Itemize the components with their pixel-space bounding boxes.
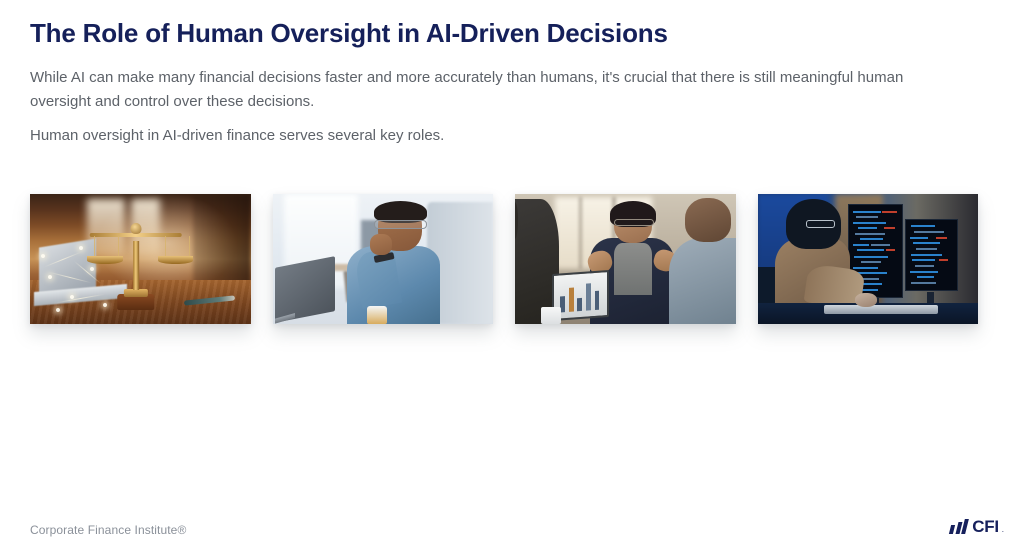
chart-bar (586, 284, 591, 311)
monitor-secondary (905, 219, 958, 292)
photo-business-meeting-discussion (515, 194, 736, 324)
coffee-cup (541, 307, 561, 324)
eyeglasses-icon (614, 219, 654, 227)
eyeglasses-icon (374, 220, 427, 229)
photo-man-thinking-at-laptop (273, 194, 494, 324)
window-mullion (579, 197, 583, 270)
cfi-logo-text: CFI (972, 519, 998, 534)
image-card-developer (758, 194, 979, 324)
laptop-screen (275, 256, 335, 322)
photo-developer-at-dual-monitors (758, 194, 979, 324)
developer-hand (855, 293, 877, 307)
speaker-blouse (614, 243, 651, 295)
page-title: The Role of Human Oversight in AI-Driven… (30, 17, 930, 49)
laptop-with-bar-chart (552, 270, 609, 321)
listener-right-head (685, 198, 731, 242)
image-card-business-meeting (515, 194, 736, 324)
laptop-base (275, 312, 295, 323)
image-card-man-thinking (273, 194, 494, 324)
chart-bar (569, 287, 574, 311)
body-paragraph-1: While AI can make many financial decisio… (30, 66, 925, 114)
person-hand (370, 234, 392, 255)
cfi-logo: CFI . (950, 519, 1004, 534)
coffee-cup (367, 306, 387, 324)
monitor-stand (927, 292, 934, 304)
footer-attribution: Corporate Finance Institute® (30, 523, 186, 537)
image-card-scales-of-justice (30, 194, 251, 324)
slide: The Role of Human Oversight in AI-Driven… (0, 0, 1024, 556)
listener-left-head (515, 202, 518, 239)
cfi-logo-trademark: . (1002, 525, 1004, 534)
keyboard (824, 305, 939, 314)
chart-bar (561, 296, 566, 313)
listener-right-torso (669, 238, 735, 324)
body-copy: While AI can make many financial decisio… (30, 66, 930, 148)
data-network-overlay (30, 194, 251, 324)
photo-scales-of-justice (30, 194, 251, 324)
body-paragraph-2: Human oversight in AI-driven finance ser… (30, 124, 930, 148)
eyeglasses-icon (806, 220, 835, 228)
cfi-logo-bars-icon (950, 519, 967, 534)
chart-bar (595, 291, 600, 310)
chart-bar (578, 298, 583, 311)
image-gallery (30, 194, 978, 324)
